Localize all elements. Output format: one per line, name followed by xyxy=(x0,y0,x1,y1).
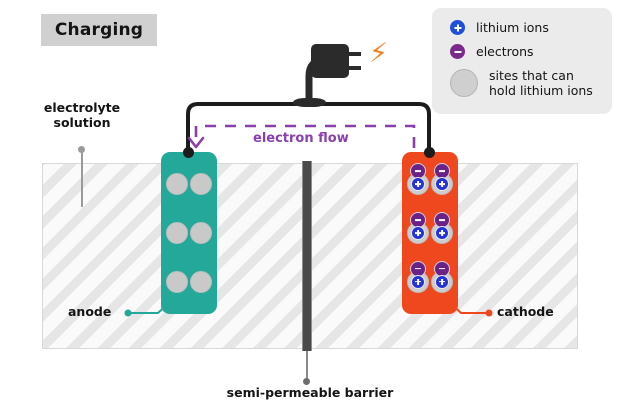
cathode-site xyxy=(431,173,453,195)
legend-label-sites-line1: sites that can xyxy=(489,68,593,83)
lithium-ion-icon xyxy=(435,275,449,289)
anode-label: anode xyxy=(68,304,111,319)
legend-item-electrons: electrons xyxy=(450,44,612,59)
legend-label-sites-line2: hold lithium ions xyxy=(489,83,593,98)
electrolyte-label-line1: electrolyte xyxy=(22,100,142,115)
lightning-bolt-icon: ⚡ xyxy=(369,40,388,67)
plug-stand-icon xyxy=(293,98,326,107)
anode-terminal-node xyxy=(183,147,194,158)
diagram-title-box: Charging xyxy=(41,14,157,46)
anode-site xyxy=(166,271,188,293)
page-title: Charging xyxy=(55,20,143,40)
anode-sites-grid xyxy=(161,152,217,314)
anode-electrode xyxy=(161,152,217,314)
legend-label-lithium-ions: lithium ions xyxy=(476,20,549,35)
barrier-leader-dot xyxy=(303,378,310,385)
barrier-label: semi-permeable barrier xyxy=(0,385,620,400)
legend-label-electrons: electrons xyxy=(476,44,534,59)
electrolyte-label-line2: solution xyxy=(22,115,142,130)
cathode-site xyxy=(431,271,453,293)
legend-item-lithium-ions: lithium ions xyxy=(450,20,612,35)
legend-item-sites: sites that can hold lithium ions xyxy=(450,68,612,98)
cathode-electrode xyxy=(402,152,458,314)
cathode-site xyxy=(407,173,429,195)
anode-site xyxy=(190,271,212,293)
cathode-sites-grid xyxy=(402,152,458,314)
anode-site xyxy=(166,222,188,244)
power-plug-icon xyxy=(311,44,349,78)
cathode-site xyxy=(407,271,429,293)
legend-panel: lithium ions electrons sites that can ho… xyxy=(432,8,612,114)
cathode-site xyxy=(431,222,453,244)
electrolyte-label: electrolyte solution xyxy=(22,100,142,130)
lithium-ion-icon xyxy=(411,275,425,289)
cathode-terminal-node xyxy=(424,147,435,158)
plug-prong-icon xyxy=(348,52,361,56)
lithium-ion-icon xyxy=(435,226,449,240)
lithium-ion-icon xyxy=(411,226,425,240)
cathode-site xyxy=(407,222,429,244)
anode-site xyxy=(166,173,188,195)
anode-site xyxy=(190,173,212,195)
anode-site xyxy=(190,222,212,244)
semi-permeable-barrier xyxy=(302,161,312,351)
cathode-label: cathode xyxy=(497,304,554,319)
legend-label-sites: sites that can hold lithium ions xyxy=(489,68,593,98)
diagram-canvas: Charging lithium ions electrons sites th… xyxy=(0,0,620,416)
plug-prong-icon xyxy=(348,66,361,70)
lithium-ion-icon xyxy=(435,177,449,191)
electron-icon xyxy=(450,44,465,59)
lithium-ion-icon xyxy=(411,177,425,191)
site-circle-icon xyxy=(450,69,478,97)
electrolyte-leader-line xyxy=(81,150,83,207)
electron-flow-label: electron flow xyxy=(253,131,349,146)
lithium-ion-icon xyxy=(450,20,465,35)
